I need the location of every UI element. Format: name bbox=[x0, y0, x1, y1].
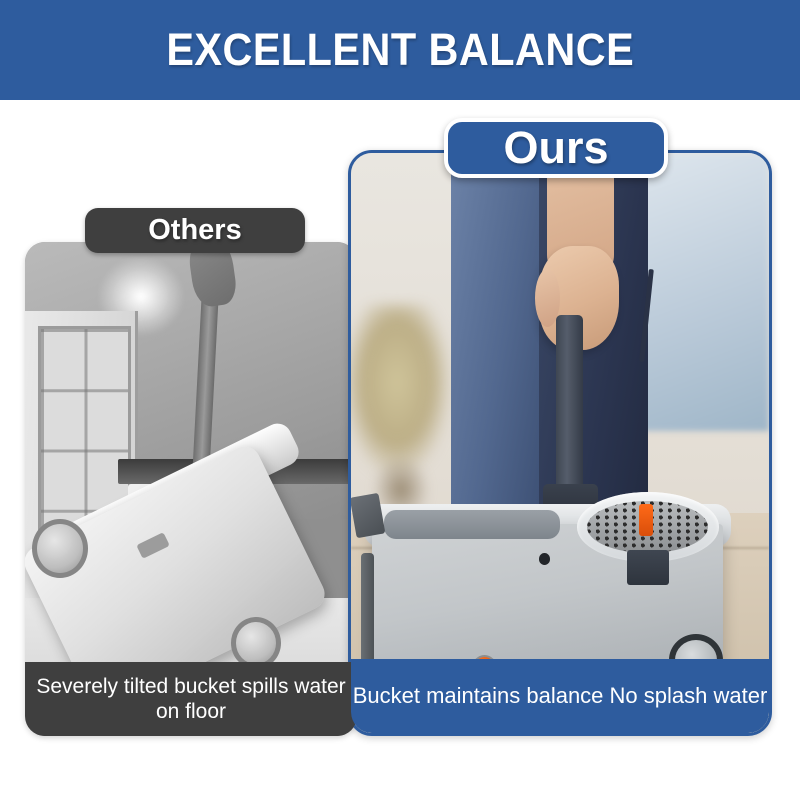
ours-photo bbox=[351, 153, 769, 733]
ours-caption: Bucket maintains balance No splash water bbox=[351, 659, 769, 733]
others-panel: Severely tilted bucket spills water on f… bbox=[25, 242, 357, 736]
spin-basket-center-post bbox=[639, 504, 652, 536]
others-caption: Severely tilted bucket spills water on f… bbox=[25, 662, 357, 736]
bucket-side-rail bbox=[361, 553, 374, 663]
header-banner: EXCELLENT BALANCE bbox=[0, 0, 800, 100]
ours-badge: Ours bbox=[444, 118, 668, 178]
others-badge: Others bbox=[85, 208, 305, 253]
person-leg-left bbox=[451, 150, 543, 524]
bucket-clip bbox=[627, 550, 669, 585]
bucket-wheel bbox=[32, 519, 88, 578]
bucket-button bbox=[539, 553, 550, 565]
bucket-water-compartment bbox=[384, 510, 560, 539]
ours-panel: Bucket maintains balance No splash water bbox=[348, 150, 772, 736]
background-plant bbox=[348, 304, 451, 478]
product-comparison-image: EXCELLENT BALANCE Severely tilted bucket… bbox=[0, 0, 800, 800]
page-title: EXCELLENT BALANCE bbox=[166, 24, 634, 76]
